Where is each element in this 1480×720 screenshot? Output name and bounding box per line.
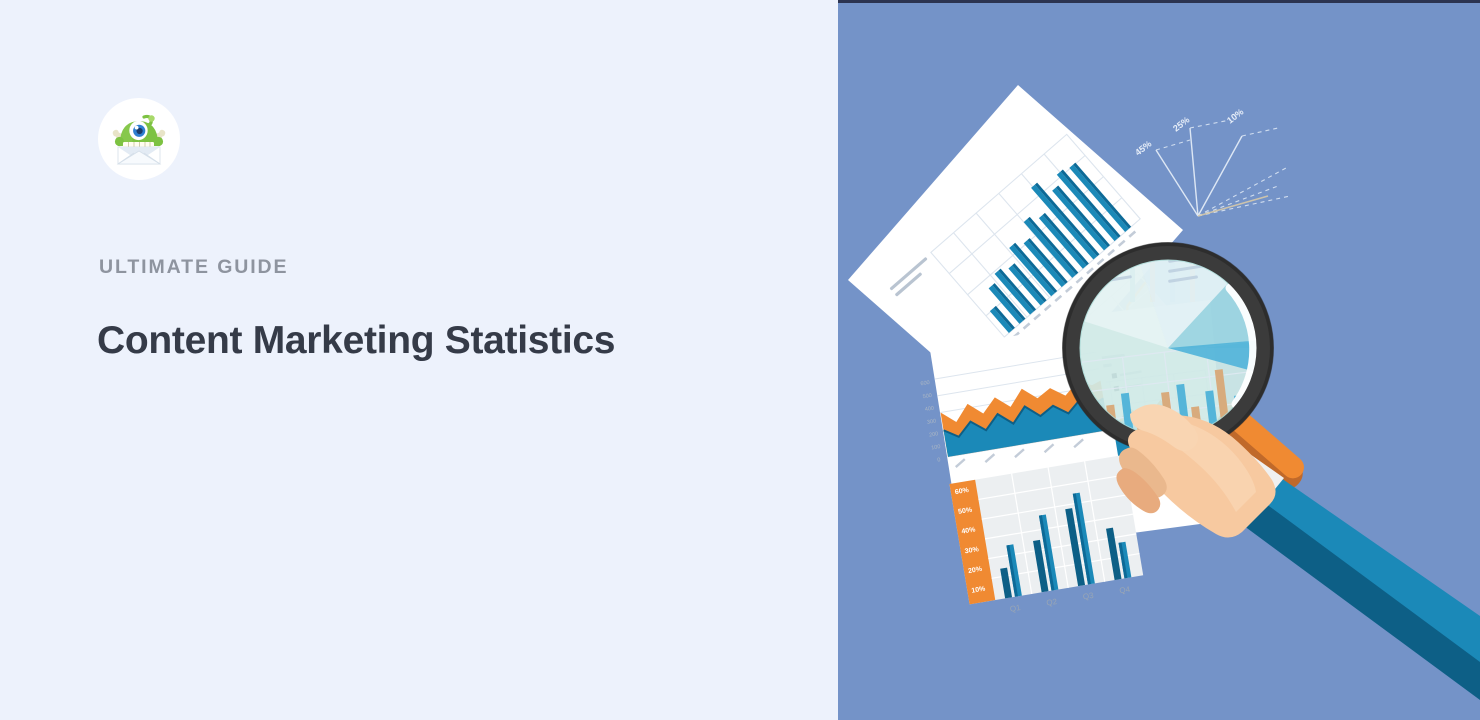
- optinmonster-logo: [98, 98, 180, 180]
- svg-text:400: 400: [924, 406, 934, 413]
- svg-text:Q4: Q4: [1119, 585, 1132, 596]
- pie-label-10: 10%: [1225, 107, 1245, 126]
- data-analysis-illustration: 45% 25% 10%: [838, 0, 1480, 720]
- guide-cover-page: ULTIMATE GUIDE Content Marketing Statist…: [0, 0, 1480, 720]
- paper-front-percent-chart: 60% 50% 40% 30% 20% 10%: [949, 455, 1145, 620]
- svg-text:Q3: Q3: [1082, 591, 1095, 602]
- left-content-panel: ULTIMATE GUIDE Content Marketing Statist…: [0, 0, 838, 720]
- svg-text:600: 600: [920, 380, 930, 387]
- magnifying-glass-charts-svg: 45% 25% 10%: [838, 0, 1480, 720]
- eyebrow-label: ULTIMATE GUIDE: [99, 258, 288, 278]
- page-title: Content Marketing Statistics: [97, 318, 615, 364]
- svg-text:0: 0: [937, 457, 941, 463]
- right-illustration-panel: 45% 25% 10%: [838, 0, 1480, 720]
- svg-text:300: 300: [927, 418, 937, 425]
- pie-label-25: 25%: [1171, 115, 1191, 134]
- svg-text:500: 500: [922, 393, 932, 400]
- svg-text:200: 200: [929, 431, 939, 438]
- svg-text:100: 100: [931, 444, 941, 451]
- monster-envelope-icon: [106, 106, 172, 172]
- svg-text:Q2: Q2: [1046, 597, 1059, 608]
- svg-text:Q1: Q1: [1009, 603, 1022, 614]
- hand-holding-magnifier: [1116, 404, 1480, 700]
- pie-label-45: 45%: [1133, 139, 1153, 158]
